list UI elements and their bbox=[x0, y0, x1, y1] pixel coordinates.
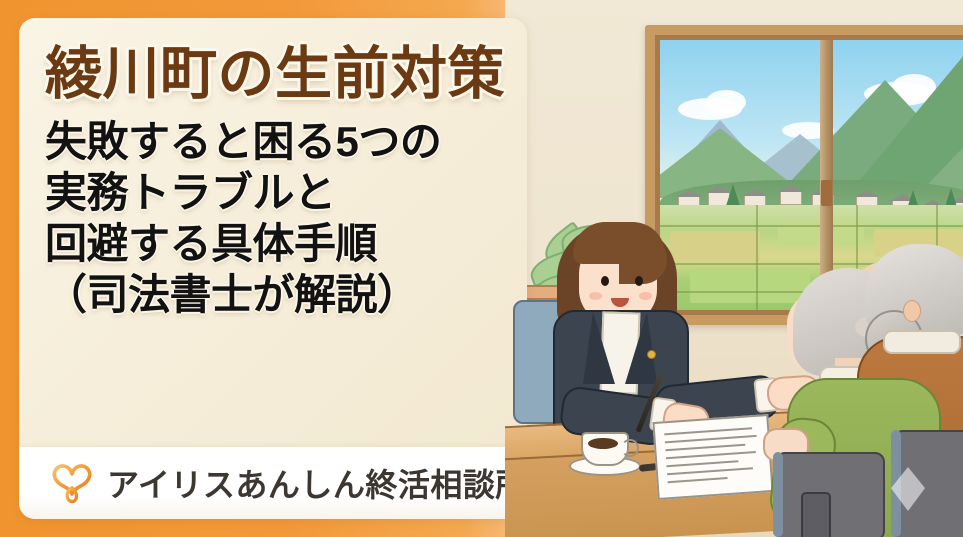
field-divider bbox=[756, 205, 758, 310]
ear bbox=[903, 300, 921, 322]
suit-lapel-right bbox=[625, 312, 657, 384]
village-houses-icon bbox=[780, 191, 802, 205]
subtitle-line-2: 実務トラブルと bbox=[45, 167, 509, 218]
collar bbox=[883, 330, 961, 354]
suit-lapel-left bbox=[583, 312, 615, 384]
text-card: 綾川町の生前対策 失敗すると困る5つの 実務トラブルと 回避する具体手順 （司法… bbox=[19, 18, 527, 519]
cheek bbox=[589, 292, 602, 300]
field-patch bbox=[670, 231, 760, 261]
cheek bbox=[639, 292, 652, 300]
page-title: 綾川町の生前対策 bbox=[45, 44, 509, 106]
heart-clover-icon bbox=[49, 462, 95, 504]
eyecatch-banner: 綾川町の生前対策 失敗すると困る5つの 実務トラブルと 回避する具体手順 （司法… bbox=[0, 0, 963, 537]
document-icon bbox=[652, 414, 773, 500]
subtitle: 失敗すると困る5つの 実務トラブルと 回避する具体手順 （司法書士が解説） bbox=[45, 116, 509, 321]
chair-arm bbox=[801, 492, 831, 537]
chair-edge bbox=[773, 452, 783, 537]
hair-front bbox=[573, 222, 665, 264]
eye-icon bbox=[635, 276, 643, 286]
cloud-icon bbox=[706, 90, 746, 114]
tree-icon bbox=[726, 184, 740, 206]
subtitle-line-4: （司法書士が解説） bbox=[45, 269, 509, 320]
brand-footer: アイリスあんしん終活相談所 bbox=[19, 447, 527, 519]
field-patch bbox=[690, 269, 810, 303]
consultation-scene-illustration bbox=[505, 0, 963, 537]
subtitle-line-1: 失敗すると困る5つの bbox=[45, 116, 509, 167]
coffee-cup-icon bbox=[581, 432, 629, 466]
eye-icon bbox=[601, 276, 609, 286]
card-body: 綾川町の生前対策 失敗すると困る5つの 実務トラブルと 回避する具体手順 （司法… bbox=[19, 18, 527, 447]
field-divider bbox=[660, 225, 963, 227]
brand-name: アイリスあんしん終活相談所 bbox=[107, 460, 527, 506]
subtitle-line-3: 回避する具体手順 bbox=[45, 218, 509, 269]
lapel-badge-icon bbox=[647, 350, 656, 359]
